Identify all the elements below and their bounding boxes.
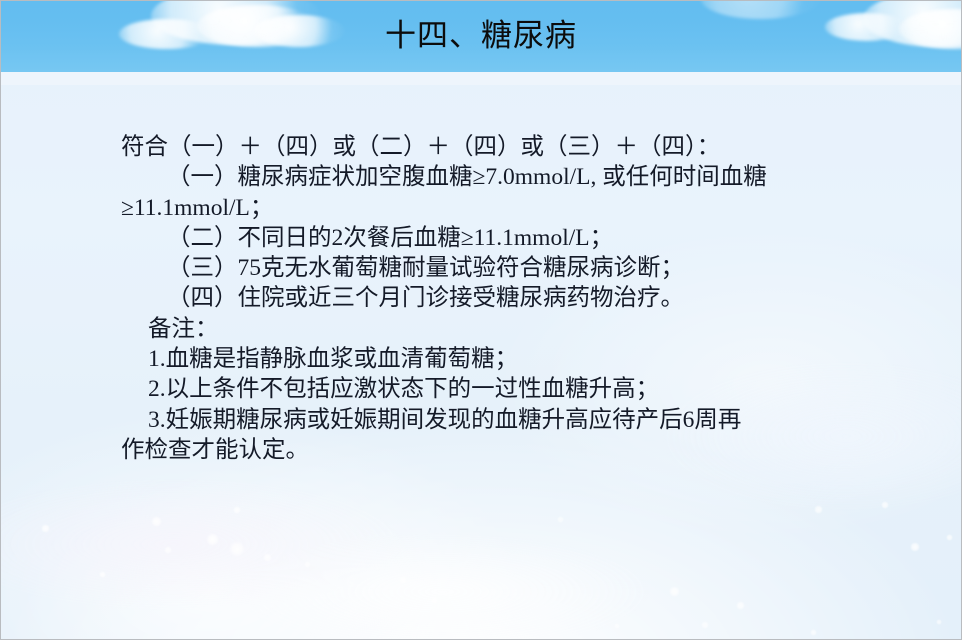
body-line: 3.妊娠期糖尿病或妊娠期间发现的血糖升高应待产后6周再 — [121, 405, 911, 435]
body-line: （四）住院或近三个月门诊接受糖尿病药物治疗。 — [121, 283, 911, 313]
page-title: 十四、糖尿病 — [1, 16, 961, 56]
cloud-scallop-strip — [1, 55, 961, 85]
slide-header-banner: 十四、糖尿病 — [1, 1, 961, 85]
body-line: （一）糖尿病症状加空腹血糖≥7.0mmol/L, 或任何时间血糖 — [121, 162, 911, 192]
body-line: 备注： — [121, 314, 911, 344]
body-line: 作检查才能认定。 — [121, 435, 911, 465]
body-line: 2.以上条件不包括应激状态下的一过性血糖升高； — [121, 374, 911, 404]
body-line: 符合（一）＋（四）或（二）＋（四）或（三）＋（四）： — [121, 132, 911, 162]
body-line: （二）不同日的2次餐后血糖≥11.1mmol/L； — [121, 223, 911, 253]
body-line: 1.血糖是指静脉血浆或血清葡萄糖； — [121, 344, 911, 374]
body-line: （三）75克无水葡萄糖耐量试验符合糖尿病诊断； — [121, 253, 911, 283]
slide-canvas: 十四、糖尿病 符合（一）＋（四）或（二）＋（四）或（三）＋（四）：（一）糖尿病症… — [0, 0, 962, 640]
body-line: ≥11.1mmol/L； — [121, 193, 911, 223]
slide-body-text: 符合（一）＋（四）或（二）＋（四）或（三）＋（四）：（一）糖尿病症状加空腹血糖≥… — [121, 132, 911, 465]
